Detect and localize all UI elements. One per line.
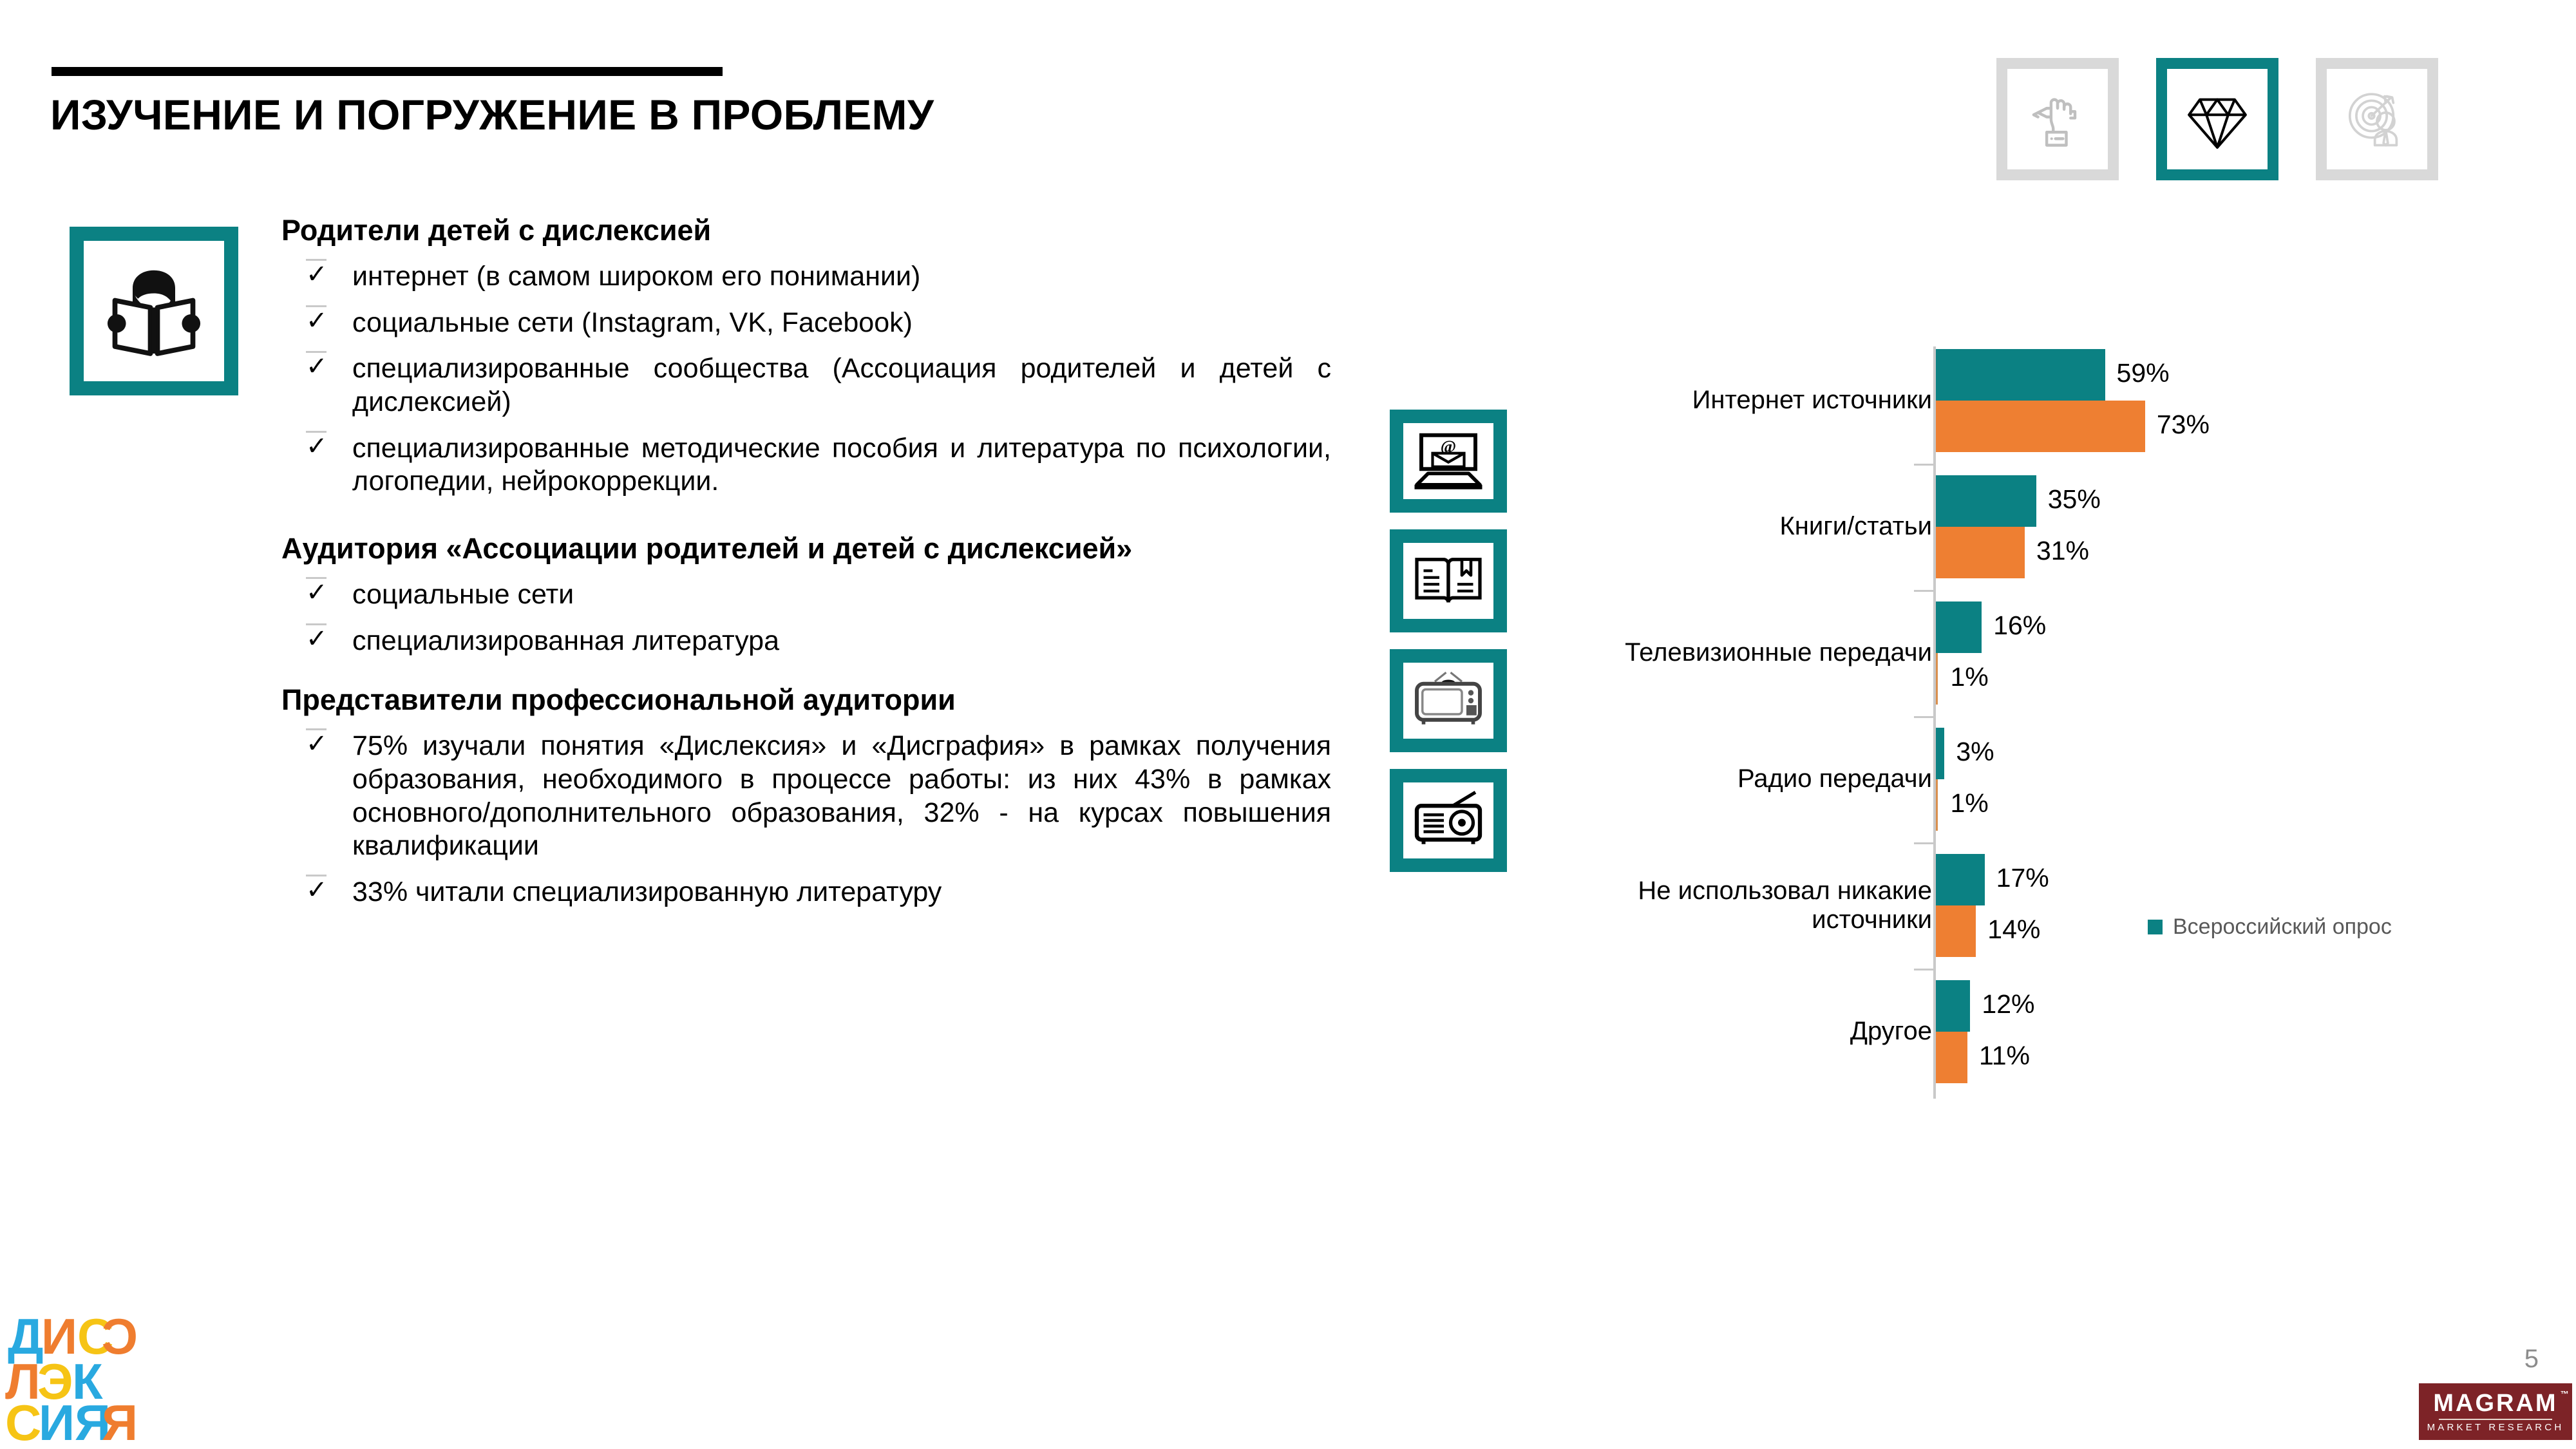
badge-person-reading	[70, 227, 238, 395]
chart-axis-tick	[1914, 716, 1935, 718]
section2-heading: Аудитория «Ассоциации родителей и детей …	[281, 532, 1331, 565]
list-item: ✓ специализированные методические пособи…	[281, 432, 1331, 498]
target-person-icon	[2342, 84, 2412, 154]
media-inner	[1403, 663, 1493, 739]
trademark-symbol: ™	[2561, 1390, 2569, 1398]
chart-bar	[1936, 1032, 1967, 1083]
chart-category-label: Не использовал никакие источники	[1571, 876, 1932, 935]
laptop-email-icon: @	[1412, 430, 1484, 492]
page-number: 5	[2524, 1345, 2539, 1374]
chart-value-label: 1%	[1950, 662, 1988, 692]
section1-heading: Родители детей с дислексией	[281, 214, 1331, 247]
slide-root: ИЗУЧЕНИЕ И ПОГРУЖЕНИЕ В ПРОБЛЕМУ	[0, 0, 2576, 1449]
chart-value-label: 59%	[2117, 358, 2170, 388]
check-icon: ✓	[306, 431, 327, 433]
section1-list: ✓ интернет (в самом широком его понимани…	[281, 260, 1331, 498]
check-icon: ✓	[306, 577, 327, 579]
chart-category-label: Радио передачи	[1571, 764, 1932, 794]
television-icon	[1412, 670, 1484, 732]
chart-category-label: Книги/статьи	[1571, 512, 1932, 542]
section-badge-strip	[1996, 58, 2438, 180]
media-badge-radio	[1390, 769, 1507, 872]
list-item: ✓ интернет (в самом широком его понимани…	[281, 260, 1331, 294]
radio-icon	[1412, 790, 1484, 851]
check-icon: ✓	[306, 305, 327, 307]
list-item: ✓ социальные сети	[281, 578, 1331, 612]
svg-text:С: С	[102, 1308, 138, 1365]
chart-value-label: 35%	[2048, 484, 2101, 515]
dyslexia-logo: Д И С С Л Э К С И Я R	[5, 1305, 149, 1443]
check-icon: ✓	[306, 623, 327, 625]
chart-axis-tick	[1914, 969, 1935, 971]
chart-axis-tick	[1914, 842, 1935, 844]
chart-axis-tick	[1914, 590, 1935, 592]
chart-value-label: 16%	[1993, 611, 2046, 641]
spacer	[281, 498, 1331, 532]
chart-bar	[1936, 905, 1976, 957]
spacer	[281, 658, 1331, 683]
chart-value-label: 1%	[1950, 788, 1988, 819]
section3-heading: Представители профессиональной аудитории	[281, 683, 1331, 717]
magram-logo: MAGRAM™ MARKET RESEARCH	[2419, 1383, 2572, 1440]
title-underline-rule	[52, 67, 723, 76]
list-item: ✓ специализированная литература	[281, 625, 1331, 658]
svg-text:С: С	[5, 1394, 41, 1443]
badge-diamond[interactable]	[2156, 58, 2278, 180]
media-inner	[1403, 543, 1493, 619]
media-icon-column: @	[1390, 410, 1507, 872]
badge-target-person[interactable]	[2316, 58, 2438, 180]
chart-category-label: Интернет источники	[1571, 386, 1932, 415]
check-icon: ✓	[306, 351, 327, 353]
dyslexia-logo-icon: Д И С С Л Э К С И Я R	[5, 1305, 149, 1443]
chart-bar	[1936, 980, 1970, 1032]
section3-list: ✓ 75% изучали понятия «Дислексия» и «Дис…	[281, 730, 1331, 909]
page-title: ИЗУЧЕНИЕ И ПОГРУЖЕНИЕ В ПРОБЛЕМУ	[50, 90, 934, 139]
chart-value-label: 14%	[1987, 914, 2040, 945]
chart-bar	[1936, 653, 1938, 705]
badge-hand-pencil[interactable]	[1996, 58, 2119, 180]
list-item: ✓ 33% читали специализированную литерату…	[281, 876, 1331, 909]
check-icon: ✓	[306, 875, 327, 876]
svg-text:R: R	[102, 1394, 138, 1443]
check-icon: ✓	[306, 728, 327, 730]
magram-tagline: MARKET RESEARCH	[2427, 1423, 2564, 1432]
chart-value-label: 31%	[2036, 536, 2089, 566]
chart-bar	[1936, 527, 2025, 578]
chart-bar	[1936, 601, 1982, 653]
chart-legend: Всероссийский опрос	[2148, 914, 2392, 940]
chart-value-label: 73%	[2157, 410, 2210, 440]
chart-value-label: 17%	[1996, 863, 2049, 893]
media-inner: @	[1403, 423, 1493, 499]
chart-category-label: Телевизионные передачи	[1571, 638, 1932, 668]
legend-label: Всероссийский опрос	[2173, 914, 2392, 940]
media-badge-internet: @	[1390, 410, 1507, 513]
diamond-icon	[2183, 84, 2252, 154]
media-inner	[1403, 782, 1493, 858]
open-book-icon	[1412, 550, 1484, 612]
content-text-column: Родители детей с дислексией ✓ интернет (…	[281, 214, 1331, 909]
media-badge-books	[1390, 529, 1507, 632]
list-item: ✓ 75% изучали понятия «Дислексия» и «Дис…	[281, 730, 1331, 862]
sources-bar-chart: 59%73%Интернет источники35%31%Книги/стат…	[1520, 335, 2421, 1108]
check-icon: ✓	[306, 259, 327, 261]
chart-bar	[1936, 854, 1985, 905]
chart-plot-area: 59%73%Интернет источники35%31%Книги/стат…	[1520, 335, 2421, 1095]
chart-bar	[1936, 401, 2145, 452]
section2-list: ✓ социальные сети ✓ специализированная л…	[281, 578, 1331, 658]
chart-bar	[1936, 349, 2105, 401]
hand-pencil-icon	[2023, 84, 2092, 154]
chart-bar	[1936, 728, 1944, 779]
svg-text:И: И	[39, 1394, 75, 1443]
legend-swatch	[2148, 920, 2163, 934]
person-reading-icon	[97, 254, 211, 368]
magram-divider	[2439, 1419, 2552, 1420]
media-badge-television	[1390, 649, 1507, 752]
chart-value-label: 3%	[1956, 737, 1994, 767]
list-item: ✓ специализированные сообщества (Ассоциа…	[281, 352, 1331, 419]
chart-value-label: 12%	[1982, 989, 2034, 1019]
chart-category-label: Другое	[1571, 1017, 1932, 1046]
magram-wordmark: MAGRAM™	[2433, 1391, 2557, 1416]
chart-bar	[1936, 779, 1938, 831]
list-item: ✓ социальные сети (Instagram, VK, Facebo…	[281, 307, 1331, 340]
chart-bar	[1936, 475, 2036, 527]
chart-value-label: 11%	[1979, 1041, 2030, 1071]
chart-axis-tick	[1914, 464, 1935, 466]
